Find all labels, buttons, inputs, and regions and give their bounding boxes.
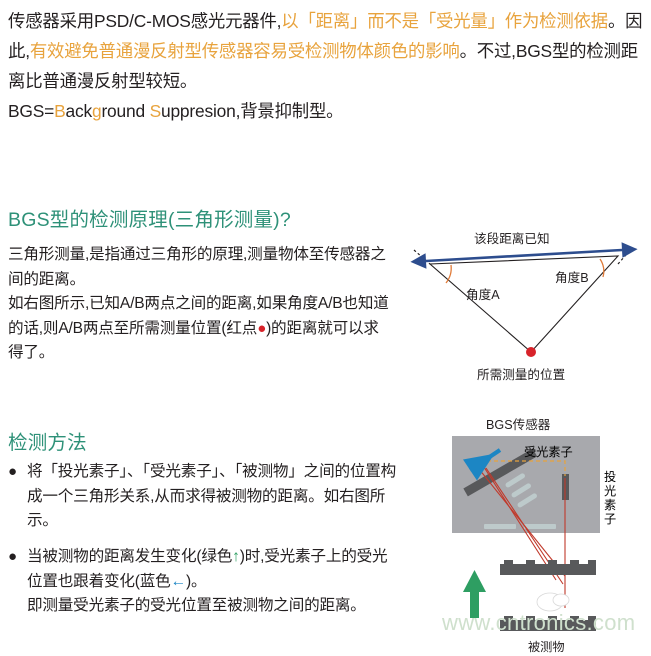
- bullet-1-text: 将「投光素子」、「受光素子」、「被测物」之间的位置构成一个三角形关系,从而求得被…: [27, 460, 400, 534]
- principle-body-text: 三角形测量,是指通过三角形的原理,测量物体至传感器之间的距离。 如右图所示,已知…: [8, 243, 390, 366]
- triangle-measurement-diagram: 该段距离已知 角度A 角度B 所需测量的位置: [404, 228, 647, 388]
- bgs-diagram-title: BGS传感器: [486, 414, 550, 433]
- bgs-sensor-diagram: BGS传感器: [444, 412, 647, 651]
- known-distance-arrow: [426, 250, 622, 261]
- bullet-2-text: 当被测物的距离发生变化(绿色↑)时,受光素子上的受光位置也跟着变化(蓝色←)。即…: [27, 545, 400, 619]
- triangle-outline: [430, 256, 618, 352]
- heading-method: 检测方法: [8, 426, 87, 455]
- principle-para1: 三角形测量,是指通过三角形的原理,测量物体至传感器之间的距离。: [8, 246, 386, 288]
- angle-a-arc: [446, 265, 451, 283]
- site-watermark: www.cntronics.com: [442, 610, 647, 636]
- intro-bgs-ack: ack: [66, 101, 92, 121]
- label-receiver-element: 受光素子: [524, 442, 573, 460]
- bullet-2-part1: 当被测物的距离发生变化(绿色: [27, 548, 232, 565]
- green-up-arrow-icon: ↑: [232, 548, 240, 565]
- bullet-2-part3: )。: [186, 573, 206, 590]
- intro-bgs-round: round: [101, 101, 149, 121]
- page-root: 传感器采用PSD/C-MOS感光元器件,以「距离」而不是「受光量」作为检测依据。…: [0, 0, 651, 651]
- red-dot-icon: ●: [257, 320, 266, 337]
- measurement-point-dot: [526, 347, 536, 357]
- label-known-distance: 该段距离已知: [474, 228, 550, 247]
- label-emitter-element: 投光素子: [604, 470, 617, 526]
- intro-line3-orange: 影响: [425, 41, 459, 61]
- target-bar-near: [500, 560, 596, 575]
- label-measured-object: 被测物: [528, 637, 565, 655]
- intro-bgs-prefix: BGS=: [8, 101, 54, 121]
- intro-line1-black: 传感器采用PSD/C-MOS感光元器件,: [8, 11, 281, 31]
- bullet-marker-icon: ●: [8, 545, 17, 570]
- intro-line1-orange: 以「距离」而不是「受光量」作为: [281, 11, 539, 31]
- list-item: ● 将「投光素子」、「受光素子」、「被测物」之间的位置构成一个三角形关系,从而求…: [8, 460, 400, 534]
- intro-bgs-suffix: uppresion,背景抑制型。: [161, 101, 343, 121]
- diffuse-reflection-blob: [537, 593, 569, 611]
- label-angle-a: 角度A: [466, 284, 500, 303]
- intro-paragraph: 传感器采用PSD/C-MOS感光元器件,以「距离」而不是「受光量」作为检测依据。…: [8, 6, 644, 126]
- blue-left-arrow-icon: ←: [171, 573, 186, 590]
- label-measurement-target: 所需测量的位置: [477, 364, 565, 383]
- bullet-2-part4: 即测量受光素子的受光位置至被测物之间的距离。: [27, 597, 366, 614]
- intro-bgs-s: S: [150, 101, 161, 121]
- list-item: ● 当被测物的距离发生变化(绿色↑)时,受光素子上的受光位置也跟着变化(蓝色←)…: [8, 545, 400, 619]
- heading-principle: BGS型的检测原理(三角形测量)?: [8, 203, 291, 232]
- label-angle-b: 角度B: [555, 267, 589, 286]
- intro-line2-orange-a: 检测依据: [539, 11, 608, 31]
- intro-line2-orange-b: 有效避免普通漫反射型传感器容易受检测物体颜色的: [30, 41, 425, 61]
- bullet-marker-icon: ●: [8, 460, 17, 485]
- intro-bgs-b: B: [54, 101, 65, 121]
